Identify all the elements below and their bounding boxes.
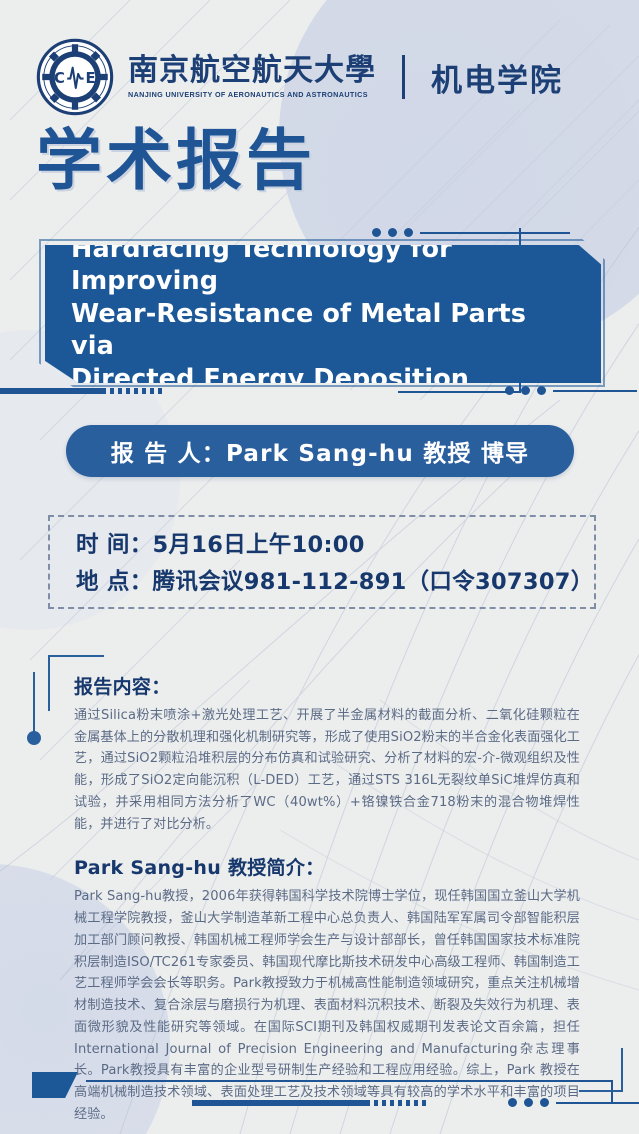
college-name-cn: 机电学院	[431, 55, 563, 100]
university-name-block: 南京航空航天大學 NANJING UNIVERSITY OF AERONAUTI…	[128, 55, 376, 99]
bio-heading: Park Sang-hu 教授简介：	[74, 853, 580, 880]
bio-body: Park Sang-hu教授，2006年获得韩国科学技术院博士学位，现任韩国国立…	[74, 886, 580, 1125]
decoration-lollipop-dot	[27, 731, 41, 745]
decoration-dots-below-banner	[505, 386, 637, 395]
event-location: 地 点：腾讯会议981-112-891（口令307307）	[76, 564, 594, 601]
decoration-rule	[553, 390, 637, 392]
dash-tick	[110, 388, 114, 394]
dot-icon	[372, 228, 381, 237]
dot-icon	[537, 386, 546, 395]
event-info-box: 时 间：5月16日上午10:00 地 点：腾讯会议981-112-891（口令3…	[48, 515, 596, 609]
decoration-corner-arrow	[32, 1072, 78, 1098]
university-name-cn: 南京航空航天大學	[128, 55, 376, 87]
dash-tick	[134, 388, 138, 394]
presentation-title-banner: Hardfacing Technology for Improving Wear…	[45, 245, 601, 383]
decoration-corner-bracket-bottom-right	[579, 1048, 623, 1092]
presentation-title: Hardfacing Technology for Improving Wear…	[45, 233, 601, 395]
dot-icon	[404, 228, 413, 237]
dash-tick	[118, 388, 122, 394]
decoration-rule	[420, 232, 570, 234]
speaker-banner: 报 告 人：Park Sang-hu 教授 博导	[66, 425, 574, 477]
content-section: 报告内容： 通过Silica粉末喷涂+激光处理工艺、开展了半金属材料的截面分析、…	[74, 672, 580, 1125]
abstract-heading: 报告内容：	[74, 672, 580, 699]
dot-icon	[505, 386, 514, 395]
dot-icon	[388, 228, 397, 237]
dash-tick	[158, 388, 162, 394]
title-line-2: Wear-Resistance of Metal Parts via	[71, 298, 575, 363]
decoration-dots-top	[372, 228, 570, 237]
page-title: 学术报告	[36, 128, 316, 194]
svg-text:C: C	[54, 70, 65, 87]
university-logo-icon: C E 南京航空航天大学机电学院	[36, 38, 114, 116]
header-divider	[402, 55, 405, 99]
dash-tick	[126, 388, 130, 394]
decoration-frame-horizontal	[398, 391, 521, 393]
svg-text:E: E	[86, 70, 96, 87]
dash-solid	[0, 388, 106, 394]
dash-tick	[142, 388, 146, 394]
decoration-lollipop-line	[33, 672, 35, 735]
poster-header: C E 南京航空航天大学机电学院 南京航空航天大學 NANJING UNIVER…	[36, 38, 563, 116]
dot-icon	[521, 386, 530, 395]
dash-tick	[150, 388, 154, 394]
university-name-en: NANJING UNIVERSITY OF AERONAUTICS AND AS…	[128, 90, 376, 99]
event-time: 时 间：5月16日上午10:00	[76, 527, 594, 564]
decoration-dashbar-left	[0, 388, 162, 394]
abstract-body: 通过Silica粉末喷涂+激光处理工艺、开展了半金属材料的截面分析、二氧化硅颗粒…	[74, 705, 580, 835]
speaker-label: 报 告 人：Park Sang-hu 教授 博导	[111, 434, 529, 468]
